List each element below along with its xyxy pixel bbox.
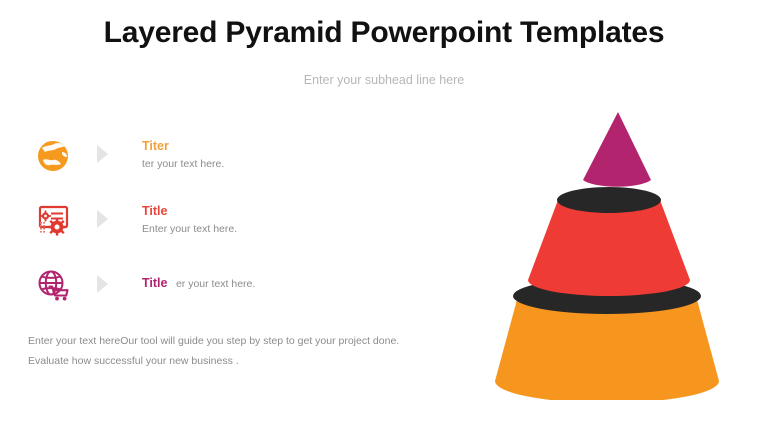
chevron-right-arrow-icon — [94, 143, 110, 165]
pyramid-layer-middle — [528, 187, 690, 296]
bullet-list: Titer ter your text here. — [24, 130, 414, 325]
list-item[interactable]: Title er your text here. — [24, 260, 414, 325]
list-item-title: Titer — [142, 138, 412, 154]
pyramid-layer-top — [583, 112, 651, 187]
slide-canvas: Layered Pyramid Powerpoint Templates Ent… — [0, 0, 768, 432]
list-item-title: Title — [142, 276, 167, 290]
settings-gears-document-icon — [32, 199, 74, 241]
list-item[interactable]: Titer ter your text here. — [24, 130, 414, 195]
page-title: Layered Pyramid Powerpoint Templates — [0, 16, 768, 50]
body-note-line-2: Evaluate how successful your new busines… — [28, 351, 428, 371]
list-item-description: er your text here. — [176, 278, 255, 290]
chevron-right-arrow-icon — [94, 273, 110, 295]
globe-shopping-cart-icon — [32, 264, 74, 306]
list-item-description: Enter your text here. — [142, 222, 412, 236]
layered-pyramid-graphic — [455, 100, 755, 400]
chevron-right-arrow-icon — [94, 208, 110, 230]
list-item-text: Title er your text here. — [142, 274, 412, 292]
list-item-title: Title — [142, 203, 412, 219]
page-subhead: Enter your subhead line here — [0, 73, 768, 87]
list-item-text: Title Enter your text here. — [142, 203, 412, 236]
globe-earth-icon — [32, 134, 74, 176]
pyramid-layer-bottom — [495, 278, 719, 400]
body-note: Enter your text hereOur tool will guide … — [28, 331, 428, 371]
list-item-text: Titer ter your text here. — [142, 138, 412, 171]
body-note-line-1: Enter your text hereOur tool will guide … — [28, 331, 428, 351]
list-item[interactable]: Title Enter your text here. — [24, 195, 414, 260]
list-item-description: ter your text here. — [142, 157, 412, 171]
